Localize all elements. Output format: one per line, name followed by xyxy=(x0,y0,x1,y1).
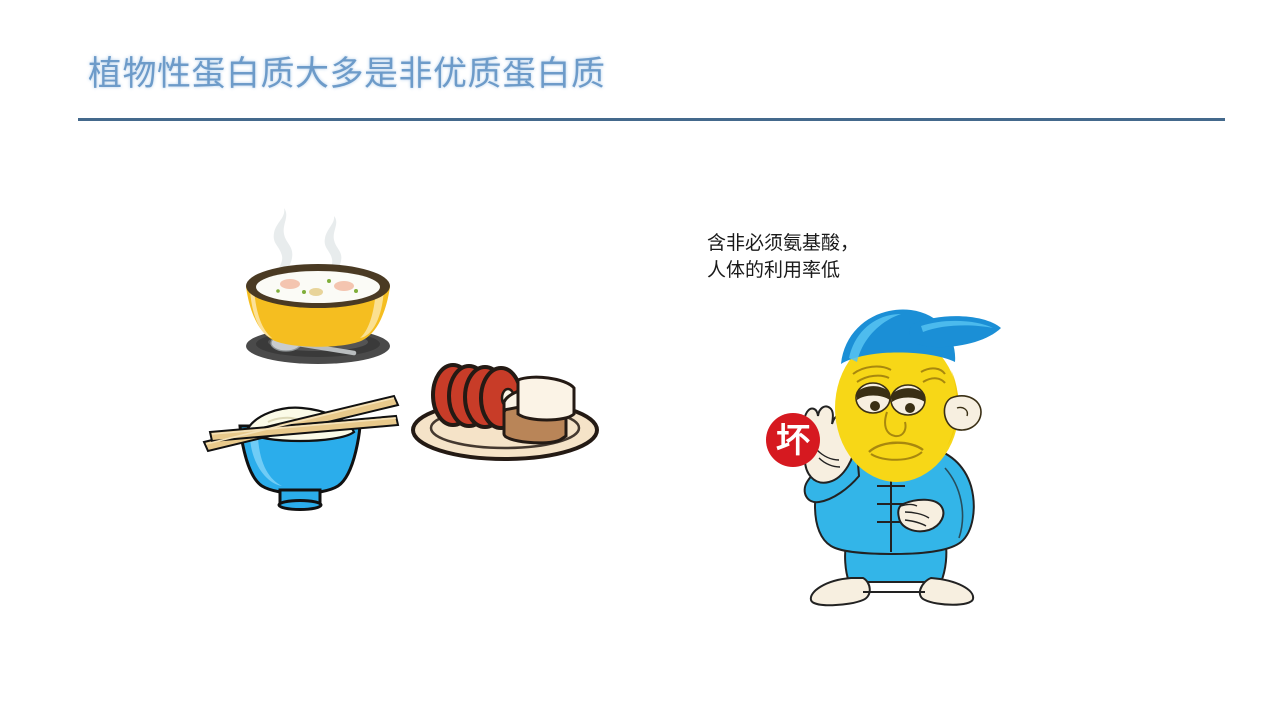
slide-canvas: 植物性蛋白质大多是非优质蛋白质 含非必须氨基酸， 人体的利用率低 xyxy=(0,0,1280,720)
title-divider xyxy=(78,118,1225,121)
bad-seal-stamp: 坏 xyxy=(766,413,820,467)
bad-seal-label: 坏 xyxy=(776,422,810,460)
mascot-illustration: 坏 xyxy=(745,300,1045,610)
meat-plate-illustration xyxy=(408,352,603,467)
rice-bowl-illustration xyxy=(198,378,403,513)
body-caption: 含非必须氨基酸， 人体的利用率低 xyxy=(707,230,859,284)
mascot-ear xyxy=(944,396,981,430)
steaming-soup-bowl-illustration xyxy=(228,188,408,368)
mascot-belly-hand xyxy=(898,500,943,532)
page-title: 植物性蛋白质大多是非优质蛋白质 xyxy=(88,52,606,96)
soup-surface xyxy=(256,271,380,303)
